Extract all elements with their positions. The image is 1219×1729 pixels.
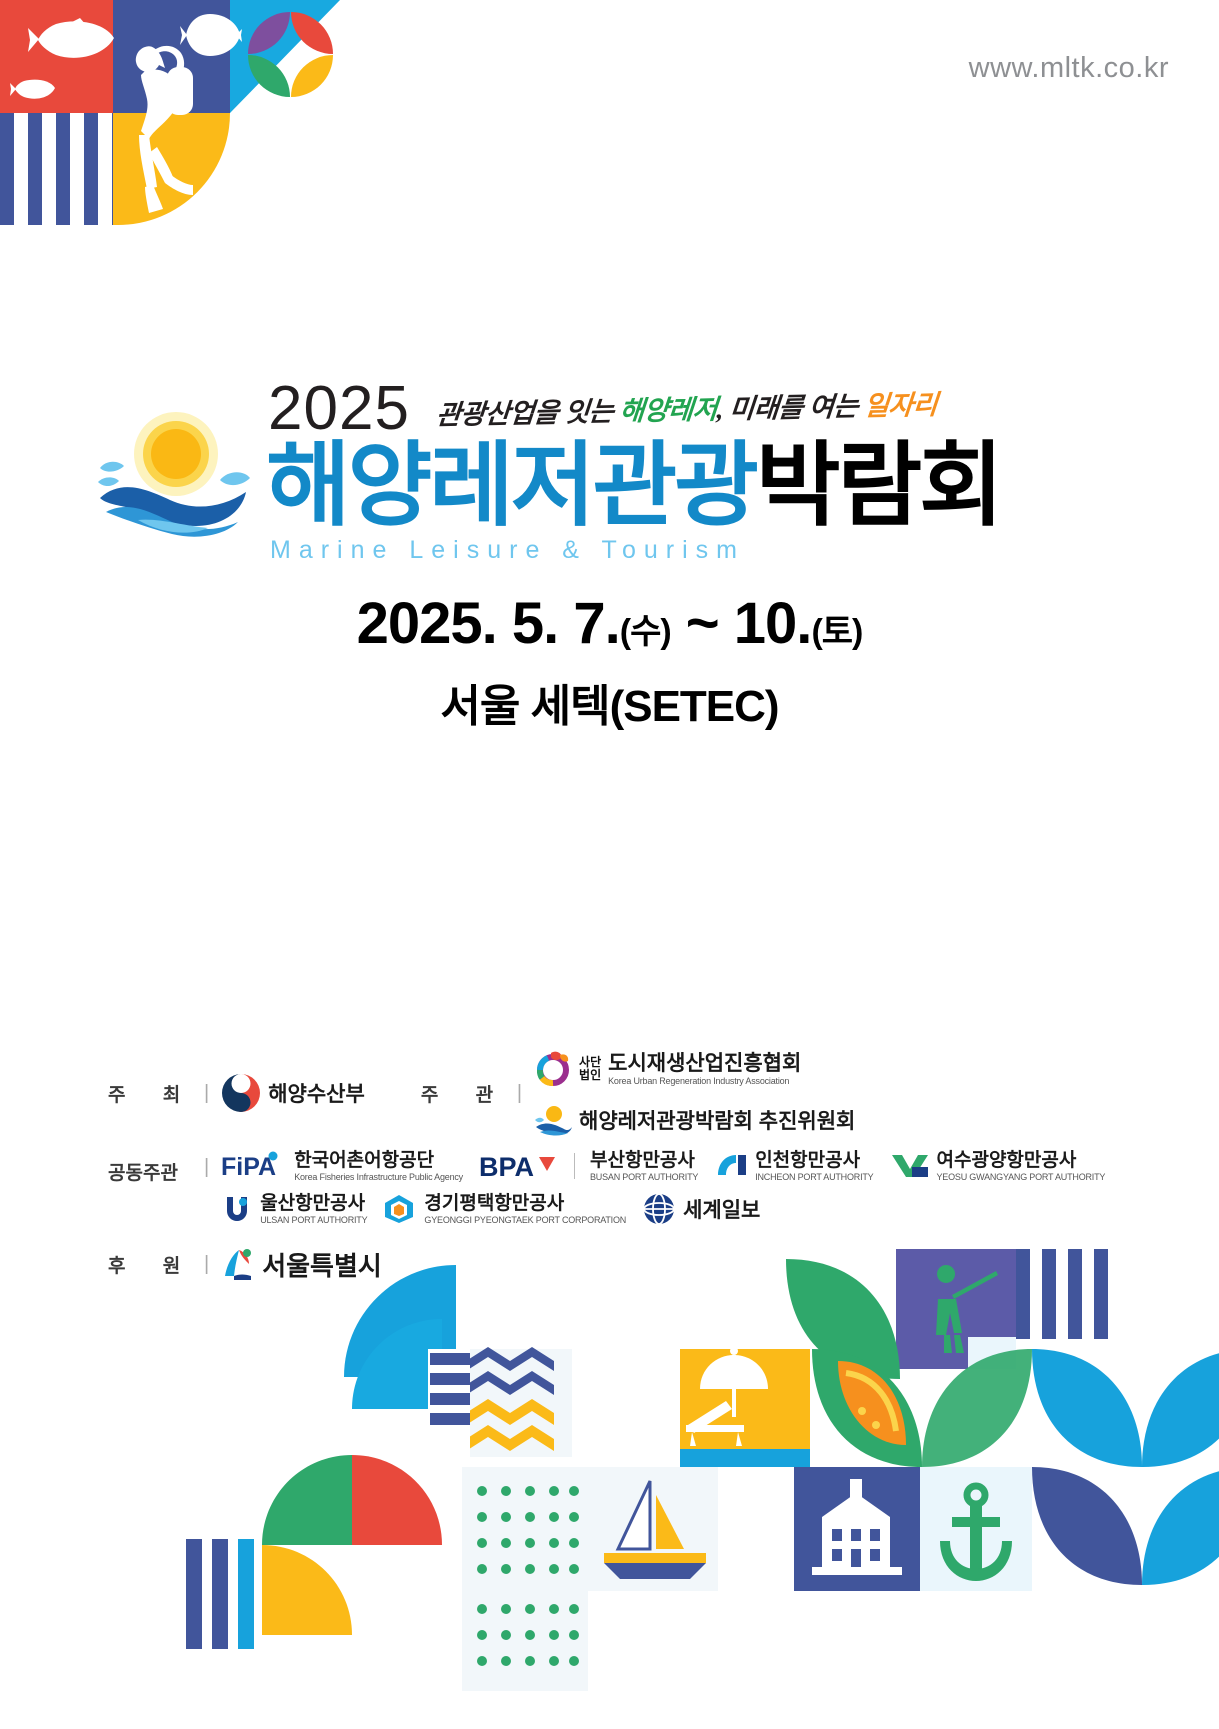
beach-tile [680, 1349, 810, 1467]
org-separator-sponsor: | [204, 1253, 209, 1276]
svg-text:FiPA: FiPA [221, 1153, 276, 1181]
org-sub-bpa: BUSAN PORT AUTHORITY [590, 1172, 698, 1182]
dot-grid-bg [462, 1467, 588, 1591]
org-item-gppc[interactable]: 경기평택항만공사 GYEONGGI PYEONGTAEK PORT CORPOR… [383, 1193, 626, 1225]
org-item-bpa[interactable]: BPA 부산항만공사 BUSAN PORT AUTHORITY [479, 1150, 698, 1182]
org-row-host: 주 최 | 해양수산부 주 관 | [108, 1050, 1118, 1136]
organizers-section: 주 최 | 해양수산부 주 관 | [108, 1050, 1118, 1298]
yellow-quarter-bottom [262, 1545, 352, 1635]
scuba-diver-icon [105, 35, 225, 215]
green-quarter [262, 1455, 352, 1545]
org-sub-gppc: GYEONGGI PYEONGTAEK PORT CORPORATION [424, 1215, 626, 1225]
seoul-icon [221, 1246, 255, 1282]
stripe-pattern [0, 113, 113, 225]
date-end: 10. [734, 591, 812, 656]
taegeuk-icon [221, 1073, 261, 1113]
org-separator-organizer: | [517, 1082, 522, 1105]
navy-leaf [1032, 1467, 1142, 1585]
title-blue-part: 해양레저관광 [266, 435, 756, 537]
event-year: 2025 [268, 378, 410, 440]
tagline-highlight-orange: 일자리 [863, 390, 939, 422]
org-items-sponsor: 서울특별시 [221, 1246, 382, 1283]
gppc-names: 경기평택항만공사 GYEONGGI PYEONGTAEK PORT CORPOR… [424, 1193, 626, 1225]
org-label-host: 주 최 [108, 1080, 204, 1107]
org-name-ygpa: 여수광양항만공사 [937, 1150, 1106, 1172]
anchor-icon [940, 1486, 1012, 1581]
beach-umbrella-icon [700, 1347, 768, 1417]
org-item-upa[interactable]: 울산항만공사 ULSAN PORT AUTHORITY [221, 1193, 367, 1225]
fipa-icon: FiPA [221, 1151, 287, 1181]
org-item-ygpa[interactable]: 여수광양항만공사 YEOSU GWANGYANG PORT AUTHORITY [890, 1150, 1106, 1182]
tagline-part-1: 관광산업을 잇는 [435, 396, 621, 430]
org-item-committee[interactable]: 해양레저관광박람회 추진위원회 [534, 1104, 855, 1136]
segye-globe-icon [642, 1192, 676, 1226]
tagline-highlight-green: 해양레저 [618, 394, 718, 426]
red-quarter [352, 1455, 442, 1545]
org-name-committee: 해양레저관광박람회 추진위원회 [579, 1105, 855, 1135]
left-stripe-3 [238, 1539, 254, 1649]
teal-arc [352, 1319, 442, 1409]
upa-names: 울산항만공사 ULSAN PORT AUTHORITY [260, 1193, 367, 1225]
beach-chair-icon [686, 1401, 744, 1446]
org-items-co-organizer-line1: FiPA 한국어촌어항공단 Korea Fisheries Infrastruc… [221, 1150, 1105, 1182]
org-sub-upa: ULSAN PORT AUTHORITY [260, 1215, 367, 1225]
building-tile [794, 1467, 920, 1591]
top-decorative-mosaic [0, 0, 340, 225]
org-sub-fipa: Korea Fisheries Infrastructure Public Ag… [294, 1172, 463, 1182]
title-black-part: 박람회 [756, 435, 1001, 537]
blue-leaf-1 [1032, 1349, 1142, 1467]
sun-wave-logo-icon [92, 408, 272, 538]
tagline-part-2: , 미래를 여는 [716, 391, 866, 424]
org-name-kuria: 도시재생산업진흥협회 [608, 1052, 801, 1076]
org-label-organizer: 주 관 [421, 1080, 517, 1107]
org-name-seoul: 서울특별시 [262, 1246, 382, 1283]
org-item-seoul[interactable]: 서울특별시 [221, 1246, 382, 1283]
bpa-icon: BPA [479, 1151, 559, 1181]
water-tile [968, 1337, 1016, 1369]
kuria-names: 도시재생산업진흥협회 Korea Urban Regeneration Indu… [608, 1052, 801, 1086]
org-separator-co-organizer: | [204, 1150, 209, 1179]
kuria-tag: 사단 법인 [579, 1056, 601, 1081]
horizontal-stripes [430, 1353, 470, 1425]
ipa-icon [714, 1151, 748, 1181]
anchor-tile [920, 1467, 1032, 1591]
org-sub-ipa: INCHEON PORT AUTHORITY [755, 1172, 873, 1182]
kuria-tag-line2: 법인 [579, 1069, 601, 1082]
org-name-bpa: 부산항만공사 [590, 1150, 698, 1172]
org-items-co-organizer-line2: 울산항만공사 ULSAN PORT AUTHORITY 경기평택항만공사 G [221, 1192, 1105, 1226]
org-row-sponsor: 후 원 | 서울특별시 [108, 1244, 1118, 1284]
building-icon [812, 1479, 902, 1575]
org-item-fipa[interactable]: FiPA 한국어촌어항공단 Korea Fisheries Infrastruc… [221, 1150, 463, 1182]
chevron-pattern [466, 1347, 554, 1395]
surfboard-icon [838, 1361, 906, 1445]
org-name-segye: 세계일보 [683, 1194, 760, 1224]
org-items-host: 해양수산부 [221, 1073, 365, 1113]
chevron-pattern-yellow [466, 1399, 554, 1451]
gppc-icon [383, 1193, 417, 1225]
fipa-names: 한국어촌어항공단 Korea Fisheries Infrastructure … [294, 1150, 463, 1182]
date-tilde: ~ [671, 591, 734, 656]
page-title: 해양레저관광박람회 [266, 440, 1001, 532]
org-separator-host: | [204, 1082, 209, 1105]
org-row-co-organizer: 공동주관 | FiPA 한국어촌어항공단 Korea Fisheries Inf… [108, 1150, 1118, 1226]
website-url[interactable]: www.mltk.co.kr [969, 52, 1169, 85]
left-stripe-1 [186, 1539, 202, 1649]
kuria-ring-icon [534, 1050, 572, 1088]
bottom-decorative-mosaic [0, 1249, 1219, 1729]
sun-wave-icon [534, 1104, 572, 1136]
ygpa-icon [890, 1151, 930, 1181]
event-date: 2025. 5. 7.(수) ~ 10.(토) [0, 590, 1219, 657]
bpa-names: 부산항만공사 BUSAN PORT AUTHORITY [590, 1150, 698, 1182]
left-stripe-2 [212, 1539, 228, 1649]
blue-leaf-3 [1142, 1467, 1219, 1585]
subtitle-english: Marine Leisure & Tourism [270, 536, 745, 565]
building-windows [832, 1529, 880, 1567]
org-sub-kuria: Korea Urban Regeneration Industry Associ… [608, 1076, 801, 1086]
date-dow-start: (수) [620, 613, 671, 651]
org-label-co-organizer: 공동주관 [108, 1150, 204, 1185]
upa-icon [221, 1193, 253, 1225]
bpa-divider [574, 1153, 575, 1179]
blue-leaf-2 [1142, 1349, 1219, 1467]
four-petal-flower-icon [248, 12, 333, 97]
org-name-mof: 해양수산부 [268, 1078, 365, 1108]
ipa-names: 인천항만공사 INCHEON PORT AUTHORITY [755, 1150, 873, 1182]
bottom-dot-grid [477, 1604, 579, 1666]
org-name-ipa: 인천항만공사 [755, 1150, 873, 1172]
org-item-mof[interactable]: 해양수산부 [221, 1073, 365, 1113]
org-sub-ygpa: YEOSU GWANGYANG PORT AUTHORITY [937, 1172, 1106, 1182]
org-item-ipa[interactable]: 인천항만공사 INCHEON PORT AUTHORITY [714, 1150, 873, 1182]
bar-stripes-bg [428, 1349, 470, 1457]
ygpa-names: 여수광양항만공사 YEOSU GWANGYANG PORT AUTHORITY [937, 1150, 1106, 1182]
water-band [680, 1449, 810, 1467]
green-leaf-4 [922, 1349, 1032, 1467]
fish-small-icon [10, 78, 56, 102]
date-dow-end: (토) [811, 613, 862, 651]
event-tagline: 관광산업을 잇는 해양레저, 미래를 여는 일자리 [435, 383, 939, 432]
org-name-gppc: 경기평택항만공사 [424, 1193, 626, 1215]
svg-text:BPA: BPA [479, 1152, 534, 1181]
date-start: 2025. 5. 7. [357, 591, 620, 656]
org-name-fipa: 한국어촌어항공단 [294, 1150, 463, 1172]
org-item-segye[interactable]: 세계일보 [642, 1192, 760, 1226]
bottom-tile-1 [462, 1591, 588, 1691]
dot-grid-pattern [477, 1486, 579, 1574]
green-leaf-3 [812, 1349, 922, 1467]
org-label-sponsor: 후 원 [108, 1251, 204, 1278]
sailboat-tile [588, 1467, 718, 1591]
event-venue: 서울 세텍(SETEC) [0, 670, 1219, 734]
poster-root: www.mltk.co.kr 2025 관광산업을 잇는 해양레저, 미래를 여… [0, 0, 1219, 1729]
org-name-upa: 울산항만공사 [260, 1193, 367, 1215]
org-item-kuria[interactable]: 사단 법인 도시재생산업진흥협회 Korea Urban Regeneratio… [534, 1050, 801, 1088]
sailboat-icon [604, 1481, 706, 1579]
org-items-organizer: 사단 법인 도시재생산업진흥협회 Korea Urban Regeneratio… [534, 1050, 1118, 1136]
chevron-bg [462, 1349, 572, 1457]
